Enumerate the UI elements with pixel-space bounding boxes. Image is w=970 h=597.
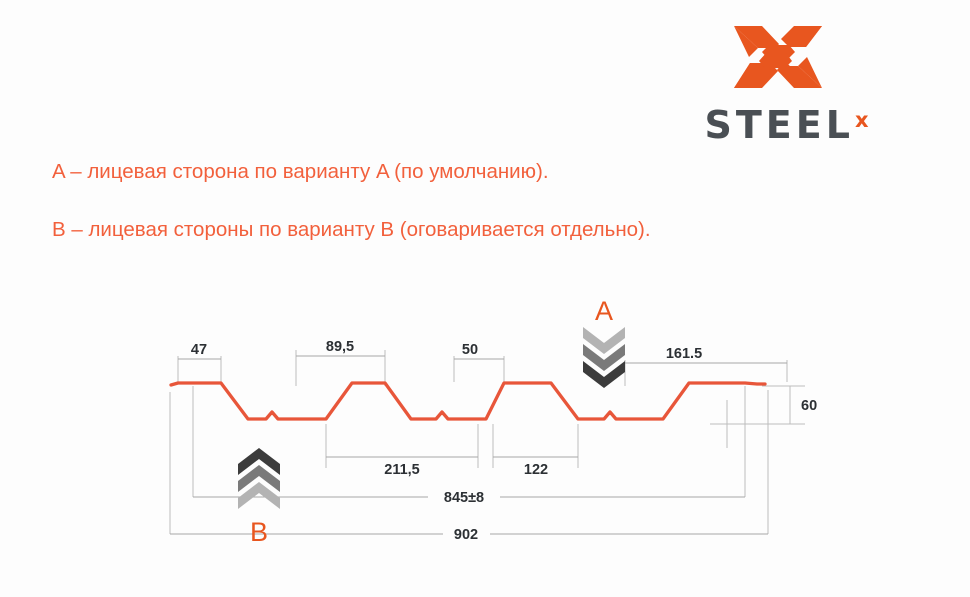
steel-profile-outline bbox=[171, 383, 765, 419]
dim-89-5: 89,5 bbox=[326, 339, 354, 355]
dim-60: 60 bbox=[801, 398, 817, 414]
marker-b-label: B bbox=[250, 517, 268, 547]
dim-845: 845±8 bbox=[444, 490, 484, 506]
dim-122: 122 bbox=[524, 462, 548, 478]
dim-902: 902 bbox=[454, 527, 478, 543]
dim-161-5: 161.5 bbox=[666, 346, 702, 362]
profile-technical-drawing: A B 47 89,5 50 161.5 211,5 122 845±8 902… bbox=[0, 0, 970, 597]
dim-47: 47 bbox=[191, 342, 207, 358]
marker-a: A bbox=[583, 296, 625, 388]
marker-a-label: A bbox=[595, 296, 613, 326]
marker-b-chevrons-icon bbox=[238, 448, 280, 509]
dimension-extension-lines bbox=[170, 350, 805, 534]
dim-50: 50 bbox=[462, 342, 478, 358]
marker-a-chevrons-icon bbox=[583, 327, 625, 388]
dim-211-5: 211,5 bbox=[384, 462, 420, 478]
